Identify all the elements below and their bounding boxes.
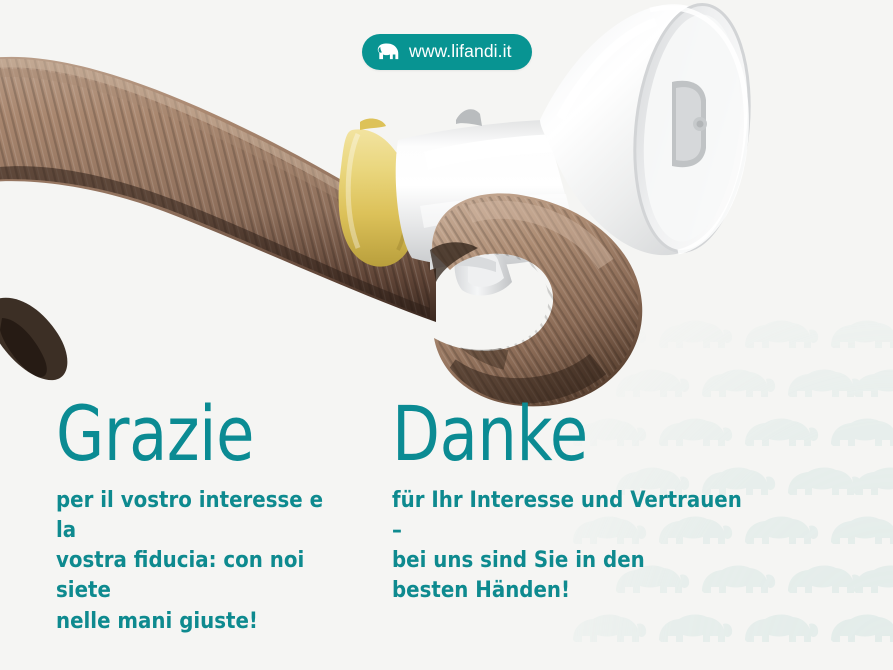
body-text-german: für Ihr Interesse und Vertrauen – bei un… — [392, 485, 753, 606]
headline-italian: Grazie — [56, 398, 323, 471]
message-column-german: Danke für Ihr Interesse und Vertrauen – … — [382, 398, 802, 636]
message-column-italian: Grazie per il vostro interesse e la vost… — [0, 398, 382, 636]
elephant-icon — [377, 43, 400, 61]
megaphone-body — [396, 109, 580, 266]
megaphone-yellow-ring — [339, 119, 416, 267]
megaphone-horn — [540, 0, 761, 257]
website-url-badge[interactable]: www.lifandi.it — [362, 34, 532, 70]
website-url-text: www.lifandi.it — [409, 43, 512, 61]
elephant-trunk-shape — [0, 40, 460, 380]
body-text-italian: per il vostro interesse e la vostra fidu… — [56, 485, 343, 636]
thank-you-messages: Grazie per il vostro interesse e la vost… — [0, 398, 893, 636]
poster-canvas: www.lifandi.it Grazie per il vostro inte… — [0, 0, 893, 670]
headline-german: Danke — [392, 398, 728, 471]
horn-clip — [672, 81, 707, 167]
megaphone-handle — [430, 241, 512, 296]
coiled-trunk-tip — [420, 180, 660, 420]
